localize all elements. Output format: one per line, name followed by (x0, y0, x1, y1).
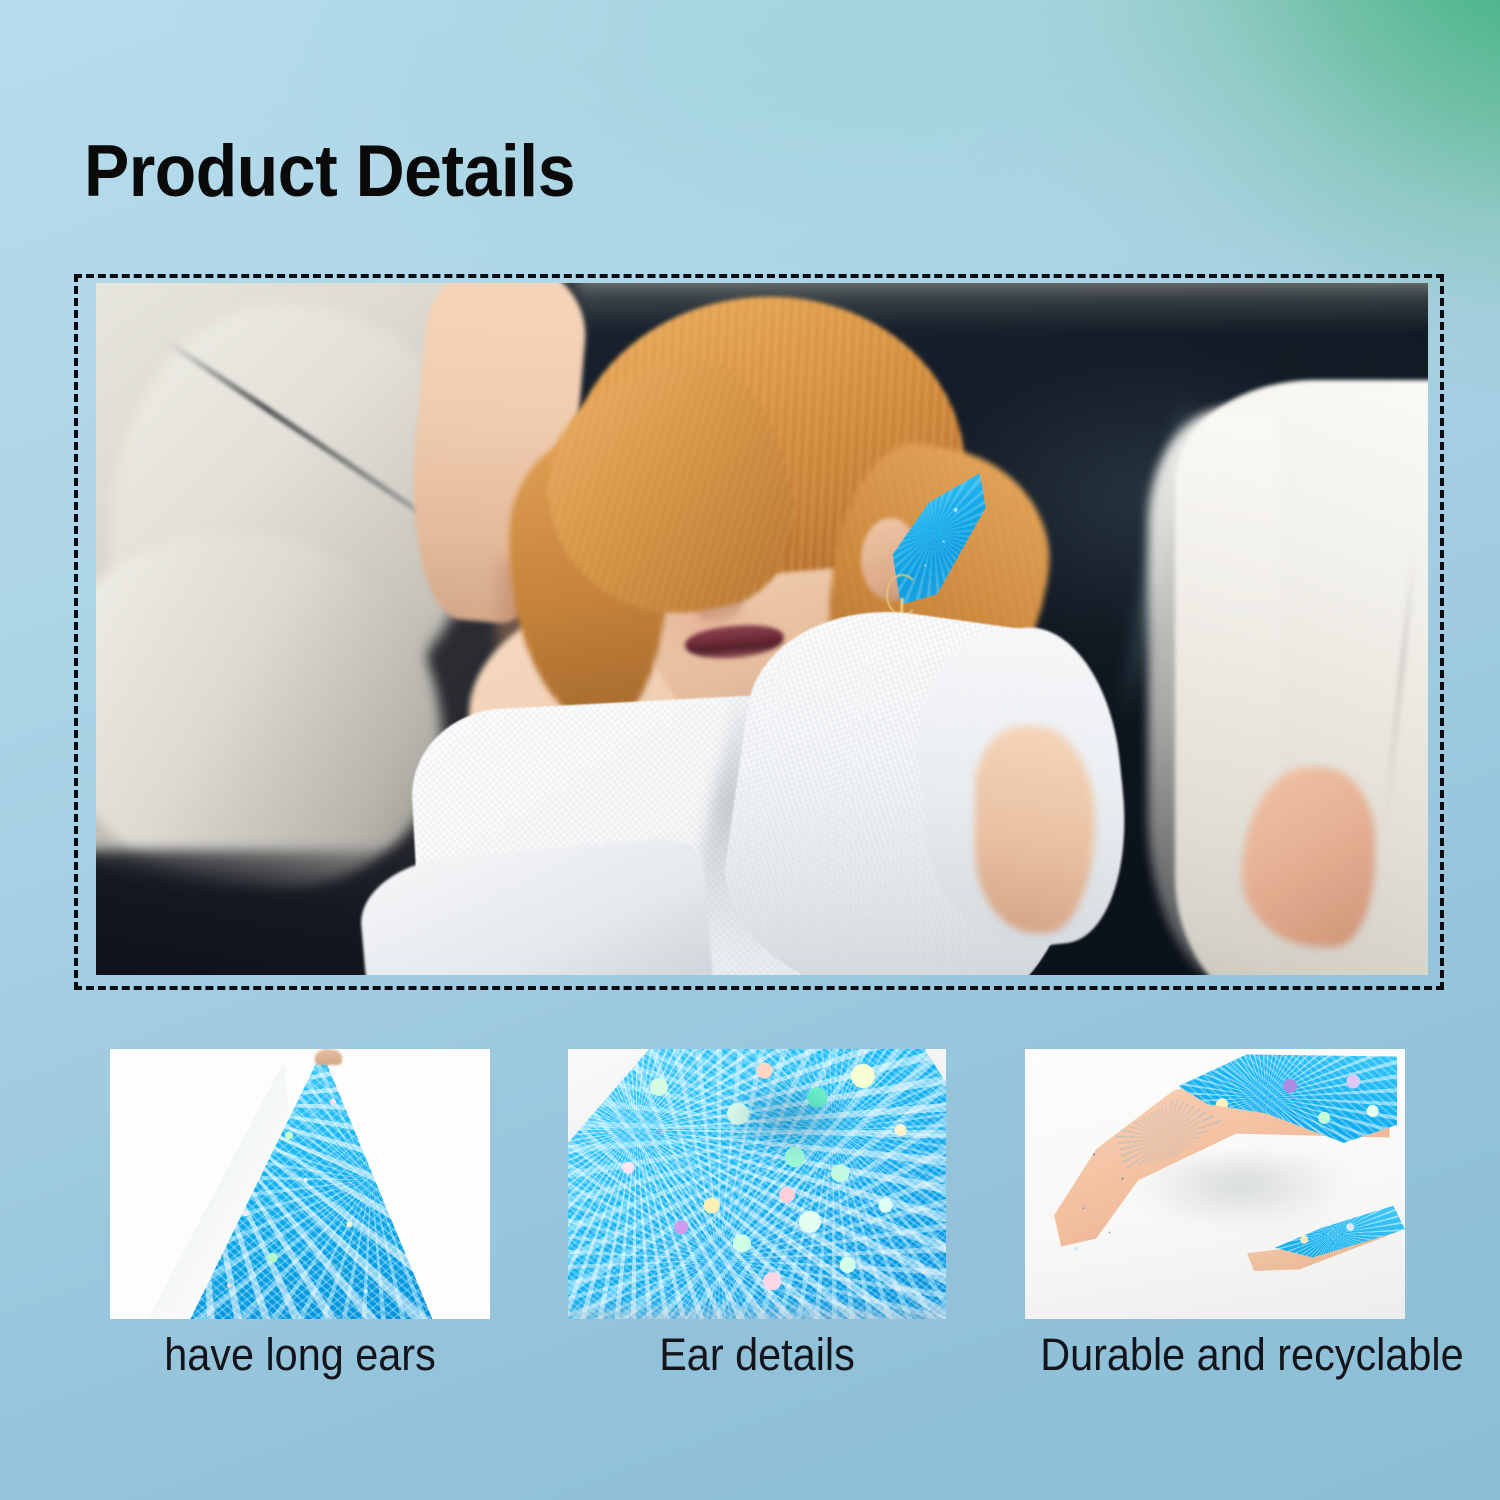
thumbnail-item-2[interactable]: Ear details (568, 1049, 946, 1319)
thumb3-glitter-specks (1055, 1130, 1184, 1265)
hero-arm-right (975, 726, 1095, 934)
thumbnail-caption-2: Ear details (583, 1331, 931, 1378)
hero-product-photo (96, 283, 1428, 975)
thumbnail-image-long-ears (110, 1049, 490, 1319)
thumbnail-item-3[interactable]: Durable and recyclable (1025, 1049, 1405, 1319)
thumb2-surface-shading (719, 1081, 855, 1157)
thumbnail-caption-3: Durable and recyclable (1040, 1331, 1390, 1378)
thumbnail-caption-1: have long ears (125, 1331, 475, 1378)
thumbnail-image-durable-recyclable (1025, 1049, 1405, 1319)
thumb1-ear-tip (315, 1049, 342, 1065)
thumbnail-row: have long ears Ear details (0, 1049, 1500, 1449)
page-title: Product Details (84, 135, 575, 208)
thumbnail-image-ear-details (568, 1049, 946, 1319)
thumbnail-item-1[interactable]: have long ears (110, 1049, 490, 1319)
product-details-page: Product Details (0, 0, 1500, 1500)
thumb2-bottom-edge (568, 1303, 946, 1319)
